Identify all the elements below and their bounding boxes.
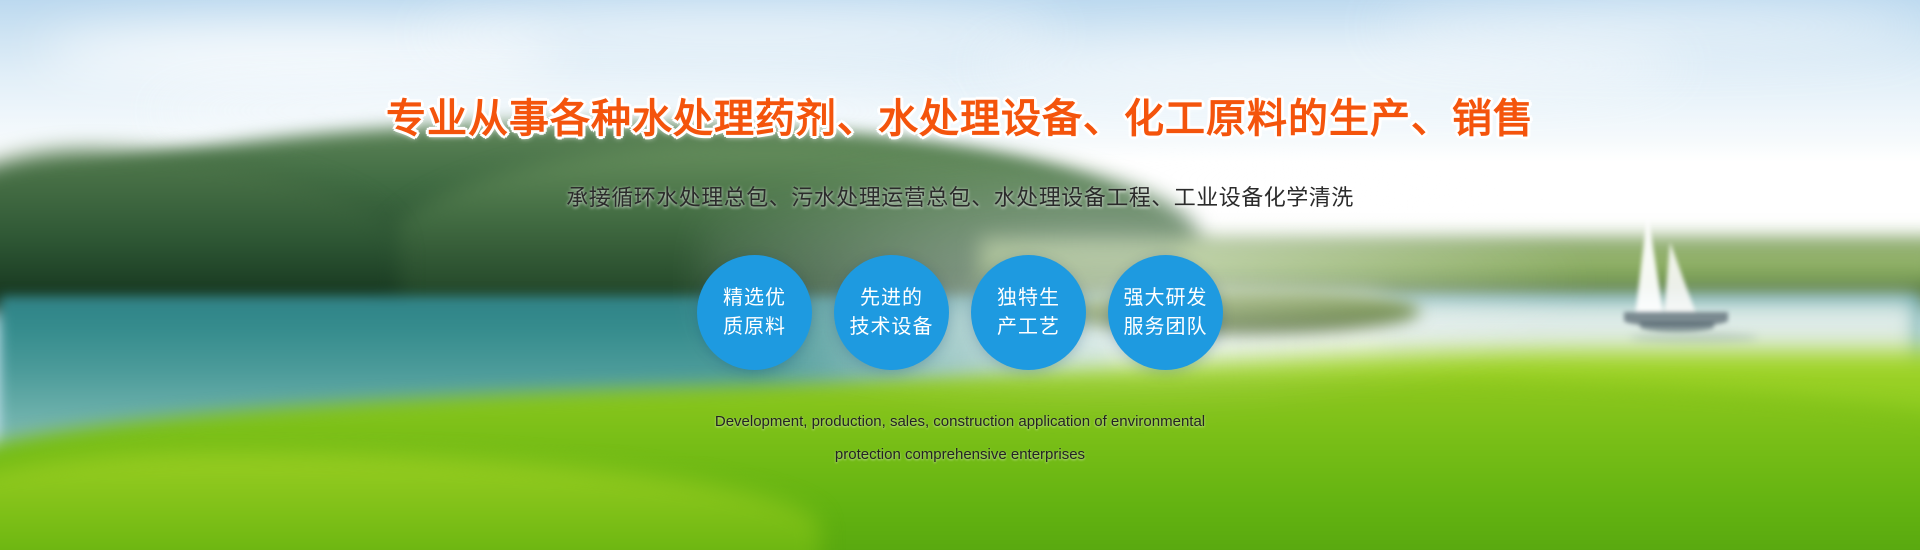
feature-circle-1-line2: 质原料 [723, 313, 786, 341]
feature-circle-3-line1: 独特生 [997, 284, 1060, 312]
english-line-1: Development, production, sales, construc… [0, 405, 1920, 438]
hero-banner: 专业从事各种水处理药剂、水处理设备、化工原料的生产、销售 承接循环水处理总包、污… [0, 0, 1920, 550]
banner-subtitle: 承接循环水处理总包、污水处理运营总包、水处理设备工程、工业设备化学清洗 [0, 180, 1920, 212]
feature-circle-2[interactable]: 先进的 技术设备 [834, 255, 949, 370]
banner-english-text: Development, production, sales, construc… [0, 405, 1920, 471]
feature-circle-2-line2: 技术设备 [850, 313, 934, 341]
english-line-2: protection comprehensive enterprises [0, 438, 1920, 471]
feature-circle-4-line1: 强大研发 [1124, 284, 1208, 312]
banner-headline: 专业从事各种水处理药剂、水处理设备、化工原料的生产、销售 [0, 86, 1920, 144]
feature-circle-list: 精选优 质原料 先进的 技术设备 独特生 产工艺 强大研发 服务团队 [0, 255, 1920, 370]
feature-circle-1-line1: 精选优 [723, 284, 786, 312]
feature-circle-3[interactable]: 独特生 产工艺 [971, 255, 1086, 370]
banner-content: 专业从事各种水处理药剂、水处理设备、化工原料的生产、销售 承接循环水处理总包、污… [0, 0, 1920, 550]
feature-circle-1[interactable]: 精选优 质原料 [697, 255, 812, 370]
feature-circle-4[interactable]: 强大研发 服务团队 [1108, 255, 1223, 370]
feature-circle-4-line2: 服务团队 [1124, 313, 1208, 341]
feature-circle-2-line1: 先进的 [860, 284, 923, 312]
feature-circle-3-line2: 产工艺 [997, 313, 1060, 341]
